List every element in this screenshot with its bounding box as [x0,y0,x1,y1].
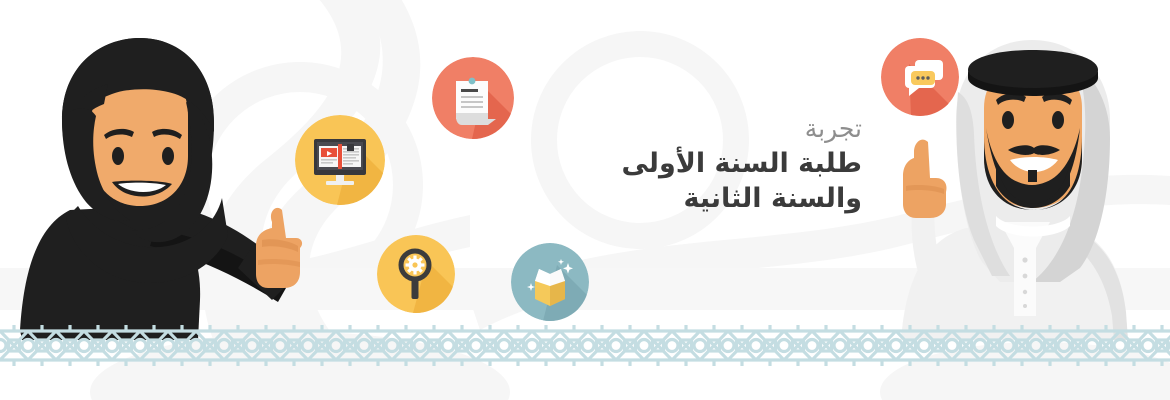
promo-banner: تجربة طلبة السنة الأولى والسنة الثانية [0,0,1170,400]
headline-block: تجربة طلبة السنة الأولى والسنة الثانية [442,112,862,216]
headline-line-2: والسنة الثانية [442,181,862,216]
headline-line-1: طلبة السنة الأولى [442,146,862,181]
search-settings-icon[interactable] [377,235,455,313]
chat-bubbles-icon[interactable] [881,38,959,116]
arabesque-pattern-band [0,325,1170,366]
e-learning-monitor-icon[interactable] [295,115,385,205]
open-box-icon[interactable] [511,243,589,321]
headline-eyebrow: تجربة [442,112,862,146]
